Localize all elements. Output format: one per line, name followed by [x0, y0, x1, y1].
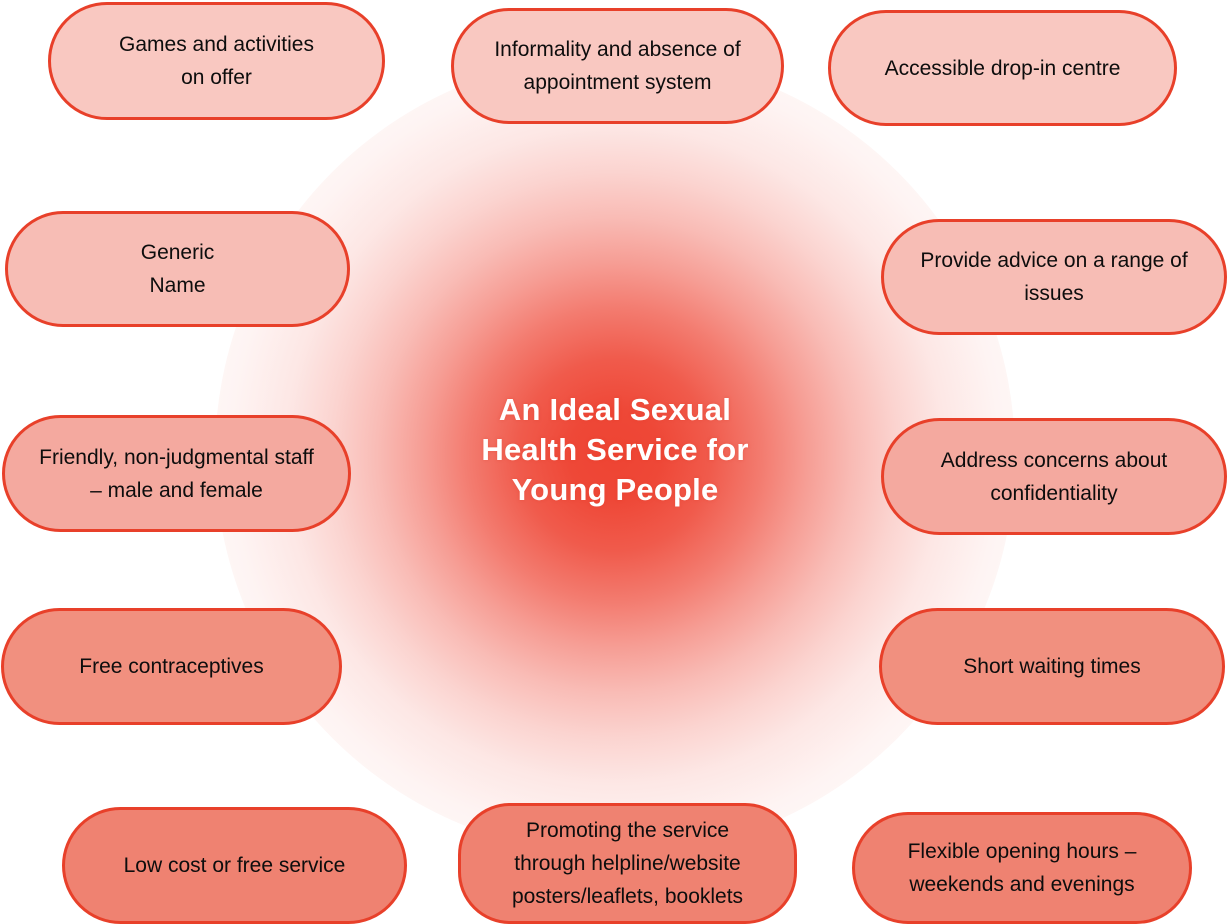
- node-line: posters/leaflets, booklets: [512, 880, 743, 913]
- node-provide-advice-range-issues[interactable]: Provide advice on a range of issues: [881, 219, 1227, 335]
- node-promoting-the-service[interactable]: Promoting the service through helpline/w…: [458, 803, 797, 924]
- node-accessible-drop-in-centre[interactable]: Accessible drop-in centre: [828, 10, 1177, 126]
- node-low-cost-or-free-service[interactable]: Low cost or free service: [62, 807, 407, 924]
- node-line: Name: [141, 269, 215, 302]
- node-generic-name[interactable]: Generic Name: [5, 211, 350, 327]
- node-friendly-non-judgmental-staff[interactable]: Friendly, non-judgmental staff – male an…: [2, 415, 351, 532]
- node-line: through helpline/website: [512, 847, 743, 880]
- node-line: Low cost or free service: [124, 849, 346, 882]
- node-line: Promoting the service: [512, 814, 743, 847]
- node-line: Address concerns about: [941, 444, 1167, 477]
- node-line: weekends and evenings: [908, 868, 1137, 901]
- node-line: Short waiting times: [963, 650, 1140, 683]
- node-line: issues: [920, 277, 1187, 310]
- node-free-contraceptives[interactable]: Free contraceptives: [1, 608, 342, 725]
- node-line: Free contraceptives: [79, 650, 263, 683]
- node-line: appointment system: [494, 66, 740, 99]
- node-short-waiting-times[interactable]: Short waiting times: [879, 608, 1225, 725]
- node-line: Flexible opening hours –: [908, 835, 1137, 868]
- node-line: Informality and absence of: [494, 33, 740, 66]
- node-line: Games and activities: [119, 28, 314, 61]
- node-line: Friendly, non-judgmental staff: [39, 441, 314, 474]
- center-title: An Ideal Sexual Health Service for Young…: [415, 390, 815, 510]
- center-title-line-3: Young People: [415, 470, 815, 510]
- node-informality-no-appointments[interactable]: Informality and absence of appointment s…: [451, 8, 784, 124]
- node-line: – male and female: [39, 474, 314, 507]
- node-line: Provide advice on a range of: [920, 244, 1187, 277]
- node-line: confidentiality: [941, 477, 1167, 510]
- node-flexible-opening-hours[interactable]: Flexible opening hours – weekends and ev…: [852, 812, 1192, 924]
- diagram-canvas: An Ideal Sexual Health Service for Young…: [0, 0, 1230, 924]
- center-title-line-1: An Ideal Sexual: [415, 390, 815, 430]
- node-address-confidentiality-concerns[interactable]: Address concerns about confidentiality: [881, 418, 1227, 535]
- node-line: Accessible drop-in centre: [885, 52, 1121, 85]
- node-games-and-activities[interactable]: Games and activities on offer: [48, 2, 385, 120]
- center-title-line-2: Health Service for: [415, 430, 815, 470]
- node-line: on offer: [119, 61, 314, 94]
- node-line: Generic: [141, 236, 215, 269]
